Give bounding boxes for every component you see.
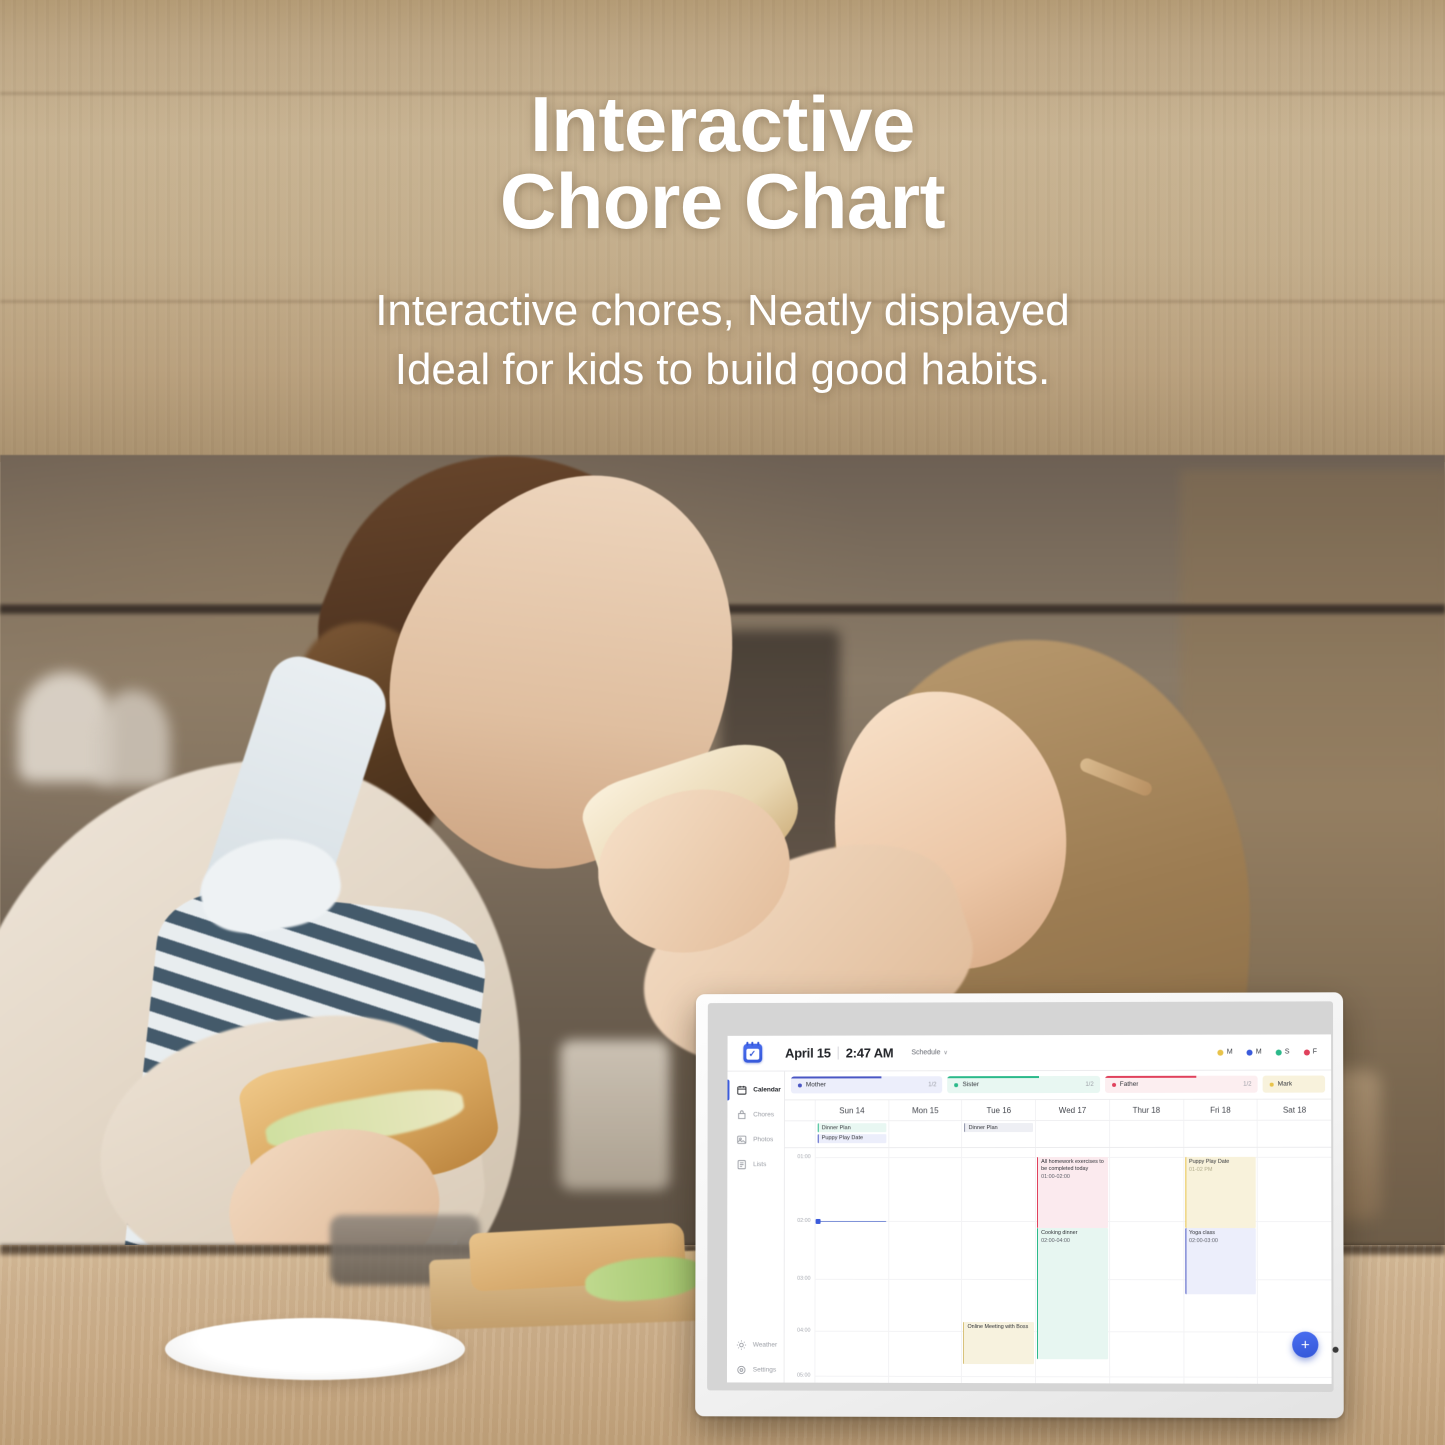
calendar-icon [736,1085,747,1096]
day-header[interactable]: Sun 14 [815,1100,888,1120]
allday-cell-thur[interactable] [1109,1121,1183,1147]
allday-cell-wed[interactable] [1035,1121,1109,1147]
time-gutter [785,1121,815,1146]
time-axis: 01:00 02:00 03:00 04:00 05:00 [785,1148,815,1383]
member-indicator[interactable]: M [1247,1049,1262,1056]
promo-sub-line1: Interactive chores, Neatly displayed [0,282,1445,341]
event-title: Puppy Play Date [1189,1159,1254,1166]
sidebar-item-photos[interactable]: Photos [727,1127,784,1152]
member-indicator[interactable]: M [1218,1049,1233,1056]
chip-color-dot [1112,1082,1116,1086]
current-time: 2:47 AM [846,1045,894,1060]
chores-icon [736,1109,747,1120]
date-time-block: April 15 2:47 AM [785,1045,893,1060]
tablet-bezel: ✓ April 15 2:47 AM Schedule ∨ M [707,1001,1334,1392]
sidebar-item-label: Chores [753,1111,774,1118]
promo-title-line2: Chore Chart [500,157,945,245]
chip-color-dot [954,1083,958,1087]
allday-cell-fri[interactable] [1183,1121,1257,1147]
event-time: 02:00-03:00 [1189,1238,1254,1245]
member-chip-sister[interactable]: Sister 1/2 [947,1076,1099,1093]
member-chip-mother[interactable]: Mother 1/2 [791,1076,943,1093]
member-color-dot [1304,1049,1310,1055]
promo-title-line1: Interactive [530,80,915,168]
event-title: Online Meeting with Boss [967,1324,1032,1331]
current-date: April 15 [785,1046,831,1061]
sidebar-nav: Calendar Chores [727,1072,785,1383]
day-column-wed[interactable]: All homework exercises to be completed t… [1035,1148,1109,1384]
allday-event[interactable]: Dinner Plan [818,1123,886,1132]
chip-color-dot [1270,1082,1274,1086]
chip-name: Sister [962,1081,979,1088]
lists-icon [736,1159,747,1170]
allday-event[interactable]: Dinner Plan [965,1123,1034,1132]
sidebar-spacer [727,1177,784,1333]
calendar-event[interactable]: Yoga class 02:00-03:00 [1185,1228,1256,1294]
promo-headline: Interactive Chore Chart Interactive chor… [0,86,1445,399]
sidebar-item-label: Settings [753,1367,776,1374]
current-time-indicator [818,1221,886,1223]
view-selector[interactable]: Schedule ∨ [911,1049,947,1056]
chip-count: 1/2 [924,1082,936,1088]
member-chip-row: Mother 1/2 Sister 1/2 Father [785,1071,1331,1101]
sidebar-item-chores[interactable]: Chores [727,1102,784,1127]
allday-event[interactable]: Puppy Play Date [818,1134,886,1143]
sidebar-item-label: Photos [753,1136,773,1143]
time-label: 01:00 [797,1154,810,1160]
plus-icon: + [1301,1337,1310,1352]
day-column-mon[interactable] [888,1148,962,1383]
allday-cell-sun[interactable]: Dinner Plan Puppy Play Date [815,1121,888,1147]
day-header[interactable]: Mon 15 [888,1100,961,1120]
calendar-event[interactable]: Puppy Play Date 01-02 PM [1185,1157,1256,1228]
calendar-event[interactable]: Cooking dinner 02:00-04:00 [1037,1228,1108,1360]
chip-count: 1/2 [1081,1081,1093,1087]
app-topbar: ✓ April 15 2:47 AM Schedule ∨ M [728,1034,1332,1071]
day-column-sun[interactable] [814,1148,888,1383]
event-title: Cooking dinner [1041,1230,1106,1237]
member-indicator[interactable]: F [1304,1048,1317,1055]
day-header[interactable]: Tue 16 [962,1100,1036,1120]
calendar-check-icon: ✓ [743,1044,762,1063]
day-header-row: Sun 14 Mon 15 Tue 16 Wed 17 Thur 18 Fri … [785,1100,1331,1122]
calendar-event[interactable]: All homework exercises to be completed t… [1037,1157,1108,1228]
sun-icon [736,1340,747,1351]
member-initial: S [1285,1049,1290,1056]
sidebar-item-weather[interactable]: Weather [727,1333,784,1358]
event-time: 01-02 PM [1189,1167,1254,1174]
day-header[interactable]: Fri 18 [1183,1100,1257,1120]
day-column-thur[interactable] [1109,1147,1183,1383]
sidebar-item-label: Calendar [753,1086,781,1093]
calendar-area: Mother 1/2 Sister 1/2 Father [785,1071,1332,1384]
camera-sensor-icon [1333,1347,1339,1353]
sidebar-item-calendar[interactable]: Calendar [727,1078,784,1103]
time-label: 04:00 [797,1328,810,1334]
photos-icon [736,1134,747,1145]
member-chip-mark[interactable]: Mark [1263,1076,1325,1093]
event-time: 01:00-02:00 [1041,1174,1106,1181]
time-label: 05:00 [797,1373,810,1379]
member-indicator[interactable]: S [1276,1049,1290,1056]
chip-count: 1/2 [1239,1081,1251,1087]
member-initial: F [1313,1048,1317,1055]
time-gutter [785,1100,815,1120]
member-chip-father[interactable]: Father 1/2 [1105,1076,1258,1093]
member-initial: M [1256,1049,1262,1056]
chip-name: Father [1120,1081,1139,1088]
gear-icon [736,1364,747,1375]
time-grid: 01:00 02:00 03:00 04:00 05:00 [785,1147,1332,1384]
view-selector-label: Schedule [911,1049,940,1056]
sidebar-item-label: Lists [753,1161,766,1168]
event-title: All homework exercises to be completed t… [1041,1159,1106,1173]
divider [838,1047,839,1060]
tablet-device: ✓ April 15 2:47 AM Schedule ∨ M [695,992,1344,1418]
day-header[interactable]: Wed 17 [1035,1100,1109,1120]
tablet-screen: ✓ April 15 2:47 AM Schedule ∨ M [727,1034,1332,1384]
member-color-dot [1247,1049,1253,1055]
member-color-dot [1218,1049,1224,1055]
promo-sub-line2: Ideal for kids to build good habits. [0,341,1445,400]
day-column-fri[interactable]: Puppy Play Date 01-02 PM Yoga class 02:0… [1183,1147,1257,1383]
time-label: 03:00 [797,1276,810,1282]
chevron-down-icon: ∨ [943,1049,947,1056]
hanging-mug [96,690,170,786]
day-column-tue[interactable]: Online Meeting with Boss [961,1148,1035,1384]
member-initial: M [1227,1049,1233,1056]
chip-color-dot [798,1083,802,1087]
calendar-event[interactable]: Online Meeting with Boss [963,1322,1034,1365]
white-plate [165,1318,465,1380]
chip-name: Mother [806,1081,826,1088]
add-event-button[interactable]: + [1292,1332,1318,1358]
day-header[interactable]: Sat 18 [1257,1100,1331,1120]
allday-cell-sat[interactable] [1257,1121,1331,1147]
day-header[interactable]: Thur 18 [1109,1100,1183,1120]
sidebar-item-label: Weather [753,1342,777,1349]
allday-cell-mon[interactable] [888,1121,961,1147]
member-indicators: M M S F [1218,1048,1331,1055]
allday-event-row: Dinner Plan Puppy Play Date Dinner Plan [785,1121,1331,1148]
sidebar-item-settings[interactable]: Settings [727,1357,784,1382]
event-title: Yoga class [1189,1230,1254,1237]
member-color-dot [1276,1049,1282,1055]
allday-cell-tue[interactable]: Dinner Plan [962,1121,1036,1147]
event-time: 02:00-04:00 [1041,1238,1106,1245]
time-label: 02:00 [797,1218,810,1224]
sidebar-item-lists[interactable]: Lists [727,1152,784,1177]
counter-jar [560,1040,670,1190]
app-icon-wrap[interactable]: ✓ [735,1044,769,1063]
chip-name: Mark [1278,1081,1293,1088]
day-columns: Online Meeting with Boss All homework ex… [814,1147,1331,1384]
